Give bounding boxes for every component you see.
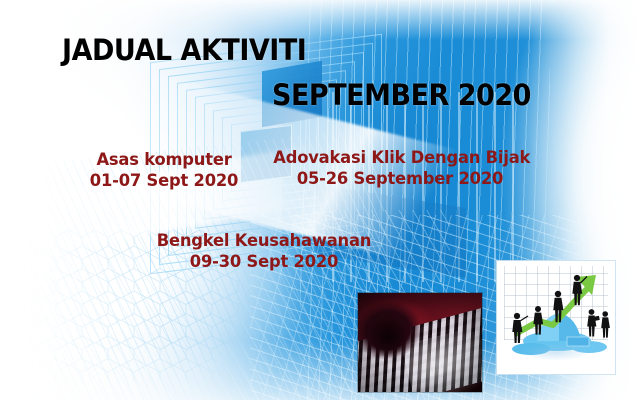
- business-growth-chart-photo: [497, 261, 615, 374]
- event-item-bengkel-keusahawanan: Bengkel Keusahawanan 09-30 Sept 2020: [148, 231, 380, 272]
- photo-vignette: [358, 293, 482, 392]
- reflection-shadow: [506, 345, 605, 370]
- event-item-adovakasi-klik-dengan-bijak: Adovakasi Klik Dengan Bijak 05-26 Septem…: [268, 148, 532, 189]
- page-title-line-2: SEPTEMBER 2020: [272, 78, 531, 112]
- event-date: 05-26 September 2020: [273, 169, 526, 190]
- event-item-asas-komputer: Asas komputer 01-07 Sept 2020: [74, 150, 254, 191]
- poster-canvas: JADUAL AKTIVITI SEPTEMBER 2020 Asas komp…: [0, 0, 640, 400]
- event-date: 01-07 Sept 2020: [78, 171, 251, 192]
- event-name: Adovakasi Klik Dengan Bijak: [273, 148, 526, 169]
- event-name: Bengkel Keusahawanan: [153, 231, 376, 252]
- page-title-line-1: JADUAL AKTIVITI: [62, 33, 306, 67]
- event-date: 09-30 Sept 2020: [153, 252, 376, 273]
- event-name: Asas komputer: [78, 150, 251, 171]
- laptop-keyboard-photo: [358, 293, 482, 392]
